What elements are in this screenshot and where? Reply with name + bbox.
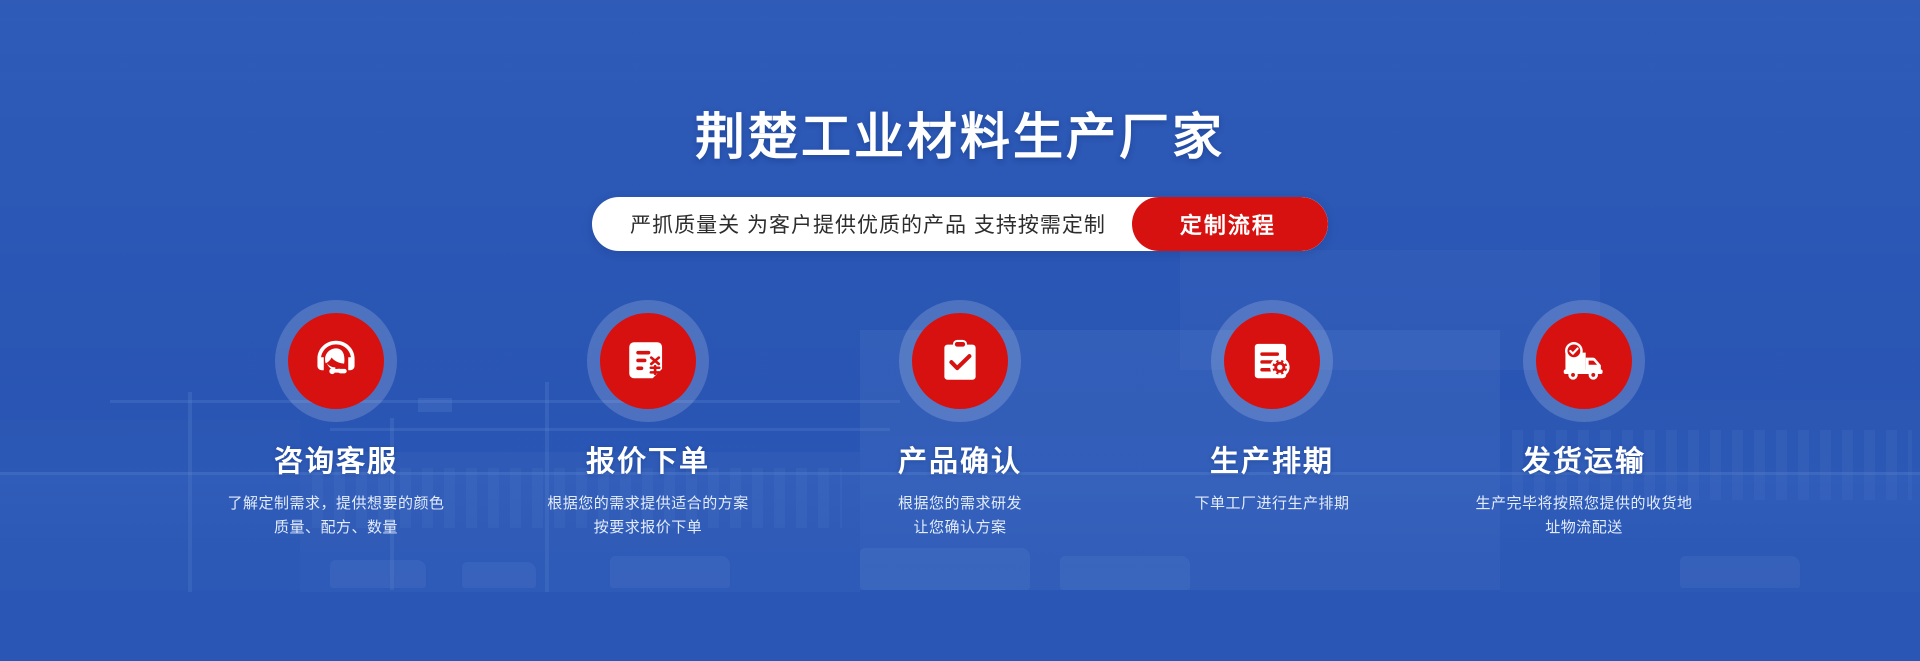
icon-disc xyxy=(1224,313,1320,409)
headset-support-icon xyxy=(309,334,363,388)
step-title: 产品确认 xyxy=(898,446,1022,479)
icon-ring xyxy=(1211,300,1333,422)
icon-ring xyxy=(587,300,709,422)
step-description: 根据您的需求提供适合的方案 按要求报价下单 xyxy=(547,492,749,539)
step-desc-line: 根据您的需求提供适合的方案 xyxy=(547,492,749,515)
custom-process-button[interactable]: 定制流程 xyxy=(1132,197,1328,251)
clipboard-check-icon xyxy=(935,336,985,386)
document-gear-icon xyxy=(1247,336,1297,386)
step-desc-line: 了解定制需求，提供想要的颜色 xyxy=(227,492,444,515)
step-desc-line: 下单工厂进行生产排期 xyxy=(1194,492,1349,515)
process-step-schedule[interactable]: 生产排期 下单工厂进行生产排期 xyxy=(1142,300,1402,539)
tagline-text: 严抓质量关 为客户提供优质的产品 支持按需定制 xyxy=(592,197,1132,251)
promo-banner: 荆楚工业材料生产厂家 严抓质量关 为客户提供优质的产品 支持按需定制 定制流程 xyxy=(0,0,1920,661)
icon-ring xyxy=(1523,300,1645,422)
tagline-pill: 严抓质量关 为客户提供优质的产品 支持按需定制 定制流程 xyxy=(592,197,1328,251)
banner-content: 荆楚工业材料生产厂家 严抓质量关 为客户提供优质的产品 支持按需定制 定制流程 xyxy=(0,0,1920,661)
process-steps: 咨询客服 了解定制需求，提供想要的颜色 质量、配方、数量 xyxy=(0,300,1920,539)
step-title: 报价下单 xyxy=(586,446,710,479)
tagline-bar: 严抓质量关 为客户提供优质的产品 支持按需定制 定制流程 xyxy=(0,197,1920,251)
step-desc-line: 生产完毕将按照您提供的收货地 xyxy=(1475,492,1692,515)
process-step-consult[interactable]: 咨询客服 了解定制需求，提供想要的颜色 质量、配方、数量 xyxy=(206,300,466,539)
step-desc-line: 根据您的需求研发 xyxy=(898,492,1022,515)
process-step-quote[interactable]: 报价下单 根据您的需求提供适合的方案 按要求报价下单 xyxy=(518,300,778,539)
icon-disc xyxy=(600,313,696,409)
step-description: 根据您的需求研发 让您确认方案 xyxy=(898,492,1022,539)
page-title: 荆楚工业材料生产厂家 xyxy=(0,110,1920,165)
icon-ring xyxy=(899,300,1021,422)
icon-disc xyxy=(288,313,384,409)
step-description: 下单工厂进行生产排期 xyxy=(1194,492,1349,515)
step-desc-line: 址物流配送 xyxy=(1475,516,1692,539)
step-desc-line: 按要求报价下单 xyxy=(547,516,749,539)
icon-ring xyxy=(275,300,397,422)
step-title: 发货运输 xyxy=(1522,446,1646,479)
step-desc-line: 质量、配方、数量 xyxy=(227,516,444,539)
step-title: 咨询客服 xyxy=(274,446,398,479)
step-description: 了解定制需求，提供想要的颜色 质量、配方、数量 xyxy=(227,492,444,539)
process-step-delivery[interactable]: 发货运输 生产完毕将按照您提供的收货地 址物流配送 xyxy=(1454,300,1714,539)
icon-disc xyxy=(912,313,1008,409)
step-desc-line: 让您确认方案 xyxy=(898,516,1022,539)
process-step-confirm[interactable]: 产品确认 根据您的需求研发 让您确认方案 xyxy=(830,300,1090,539)
delivery-truck-check-icon xyxy=(1557,334,1611,388)
step-title: 生产排期 xyxy=(1210,446,1334,479)
icon-disc xyxy=(1536,313,1632,409)
invoice-yuan-icon xyxy=(623,336,673,386)
step-description: 生产完毕将按照您提供的收货地 址物流配送 xyxy=(1475,492,1692,539)
